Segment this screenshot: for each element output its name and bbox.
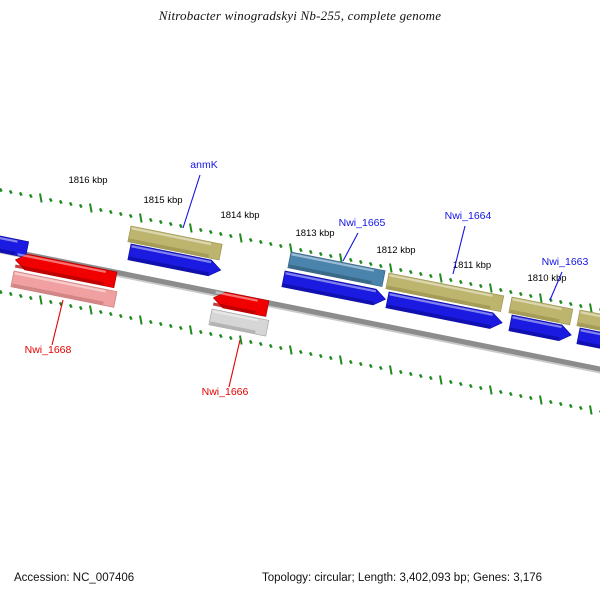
- scale-minor-tick: [360, 362, 362, 365]
- scale-minor-tick: [260, 240, 262, 243]
- gene-label-leader-line: [229, 340, 240, 387]
- scale-minor-tick: [460, 382, 462, 385]
- scale-minor-tick: [480, 386, 482, 389]
- scale-minor-tick: [320, 354, 322, 357]
- scale-major-tick: [140, 316, 142, 325]
- scale-minor-tick: [480, 284, 482, 287]
- gene-label-leader-line: [183, 175, 200, 228]
- scale-minor-tick: [150, 218, 152, 221]
- gene-label[interactable]: Nwi_1668: [25, 344, 72, 356]
- scale-minor-tick: [370, 364, 372, 367]
- scale-major-tick: [540, 396, 542, 405]
- scale-minor-tick: [470, 384, 472, 387]
- scale-minor-tick: [430, 376, 432, 379]
- scale-minor-tick: [30, 296, 32, 299]
- scale-minor-tick: [170, 324, 172, 327]
- scale-minor-tick: [300, 248, 302, 251]
- scale-minor-tick: [450, 278, 452, 281]
- scale-minor-tick: [160, 220, 162, 223]
- scale-minor-tick: [270, 344, 272, 347]
- scale-minor-tick: [200, 228, 202, 231]
- scale-minor-tick: [170, 222, 172, 225]
- scale-minor-tick: [330, 254, 332, 257]
- scale-minor-tick: [110, 312, 112, 315]
- scale-minor-tick: [550, 400, 552, 403]
- scale-minor-tick: [450, 380, 452, 383]
- scale-minor-tick: [230, 234, 232, 237]
- genome-summary-text: Topology: circular; Length: 3,402,093 bp…: [262, 572, 542, 584]
- scale-major-tick: [190, 326, 192, 335]
- scale-minor-tick: [210, 230, 212, 233]
- scale-minor-tick: [520, 292, 522, 295]
- ruler-tick-label: 1816 kbp: [68, 175, 107, 186]
- scale-minor-tick: [360, 260, 362, 263]
- scale-minor-tick: [310, 352, 312, 355]
- scale-minor-tick: [560, 402, 562, 405]
- gene-label-leader-line: [343, 233, 358, 261]
- scale-minor-tick: [120, 314, 122, 317]
- scale-minor-tick: [320, 252, 322, 255]
- scale-minor-tick: [50, 300, 52, 303]
- scale-minor-tick: [220, 334, 222, 337]
- gene-label[interactable]: Nwi_1663: [542, 256, 589, 268]
- scale-major-tick: [490, 386, 492, 395]
- scale-major-tick: [590, 406, 592, 415]
- scale-minor-tick: [80, 306, 82, 309]
- genome-map-canvas: Nitrobacter winogradskyi Nb-255, complet…: [0, 0, 600, 600]
- scale-minor-tick: [70, 304, 72, 307]
- scale-minor-tick: [350, 258, 352, 261]
- scale-minor-tick: [110, 210, 112, 213]
- scale-minor-tick: [380, 264, 382, 267]
- page-title: Nitrobacter winogradskyi Nb-255, complet…: [0, 8, 600, 24]
- scale-major-tick: [290, 346, 292, 355]
- scale-minor-tick: [130, 214, 132, 217]
- scale-major-tick: [190, 224, 192, 233]
- scale-major-tick: [390, 366, 392, 375]
- scale-major-tick: [90, 306, 92, 315]
- scale-minor-tick: [210, 332, 212, 335]
- scale-major-tick: [440, 274, 442, 283]
- scale-minor-tick: [200, 330, 202, 333]
- scale-minor-tick: [260, 342, 262, 345]
- scale-minor-tick: [220, 232, 222, 235]
- scale-minor-tick: [130, 316, 132, 319]
- scale-major-tick: [590, 304, 592, 313]
- scale-minor-tick: [300, 350, 302, 353]
- scale-major-tick: [240, 336, 242, 345]
- scale-minor-tick: [380, 366, 382, 369]
- gene-feature[interactable]: [0, 228, 29, 257]
- scale-minor-tick: [570, 302, 572, 305]
- gene-label[interactable]: Nwi_1666: [202, 386, 249, 398]
- scale-minor-tick: [470, 282, 472, 285]
- ruler-tick-label: 1815 kbp: [143, 195, 182, 206]
- ruler-tick-label: 1811 kbp: [453, 260, 491, 271]
- scale-major-tick: [40, 296, 42, 305]
- scale-minor-tick: [580, 406, 582, 409]
- scale-minor-tick: [30, 194, 32, 197]
- genome-diagram: 1816 kbp1815 kbp1814 kbp1813 kbp1812 kbp…: [0, 0, 600, 600]
- scale-major-tick: [340, 254, 342, 263]
- gene-feature[interactable]: [577, 328, 600, 355]
- gene-label[interactable]: Nwi_1665: [339, 217, 386, 229]
- scale-minor-tick: [400, 268, 402, 271]
- scale-minor-tick: [330, 356, 332, 359]
- scale-minor-tick: [20, 294, 22, 297]
- scale-minor-tick: [370, 262, 372, 265]
- scale-minor-tick: [420, 374, 422, 377]
- scale-minor-tick: [350, 360, 352, 363]
- scale-minor-tick: [410, 270, 412, 273]
- scale-major-tick: [90, 204, 92, 213]
- gene-label[interactable]: Nwi_1664: [445, 210, 492, 222]
- scale-minor-tick: [70, 202, 72, 205]
- scale-major-tick: [290, 244, 292, 253]
- scale-major-tick: [440, 376, 442, 385]
- scale-minor-tick: [0, 290, 2, 293]
- scale-minor-tick: [180, 224, 182, 227]
- scale-minor-tick: [510, 290, 512, 293]
- scale-minor-tick: [120, 212, 122, 215]
- scale-minor-tick: [0, 188, 2, 191]
- scale-minor-tick: [400, 370, 402, 373]
- scale-minor-tick: [280, 346, 282, 349]
- scale-minor-tick: [410, 372, 412, 375]
- scale-minor-tick: [50, 198, 52, 201]
- scale-minor-tick: [180, 326, 182, 329]
- scale-minor-tick: [20, 192, 22, 195]
- scale-minor-tick: [10, 292, 12, 295]
- scale-minor-tick: [250, 340, 252, 343]
- scale-minor-tick: [250, 238, 252, 241]
- scale-minor-tick: [100, 310, 102, 313]
- scale-minor-tick: [160, 322, 162, 325]
- scale-minor-tick: [100, 208, 102, 211]
- scale-major-tick: [240, 234, 242, 243]
- gene-label[interactable]: anmK: [190, 159, 217, 171]
- scale-minor-tick: [270, 242, 272, 245]
- scale-minor-tick: [560, 300, 562, 303]
- accession-text: Accession: NC_007406: [14, 572, 134, 584]
- scale-minor-tick: [530, 294, 532, 297]
- scale-minor-tick: [530, 396, 532, 399]
- ruler-tick-label: 1812 kbp: [376, 245, 415, 256]
- scale-major-tick: [340, 356, 342, 365]
- scale-minor-tick: [420, 272, 422, 275]
- ruler-tick-label: 1813 kbp: [295, 228, 334, 239]
- scale-major-tick: [490, 284, 492, 293]
- scale-minor-tick: [10, 190, 12, 193]
- gene-label-leader-line: [52, 300, 63, 345]
- scale-minor-tick: [280, 244, 282, 247]
- scale-minor-tick: [570, 404, 572, 407]
- scale-minor-tick: [520, 394, 522, 397]
- scale-minor-tick: [230, 336, 232, 339]
- scale-minor-tick: [150, 320, 152, 323]
- scale-minor-tick: [460, 280, 462, 283]
- scale-minor-tick: [60, 200, 62, 203]
- scale-minor-tick: [580, 304, 582, 307]
- scale-major-tick: [140, 214, 142, 223]
- scale-minor-tick: [430, 274, 432, 277]
- scale-major-tick: [540, 294, 542, 303]
- scale-major-tick: [40, 194, 42, 203]
- scale-minor-tick: [310, 250, 312, 253]
- scale-minor-tick: [500, 288, 502, 291]
- scale-minor-tick: [500, 390, 502, 393]
- scale-minor-tick: [80, 204, 82, 207]
- ruler-tick-label: 1814 kbp: [220, 210, 259, 221]
- scale-minor-tick: [510, 392, 512, 395]
- scale-major-tick: [390, 264, 392, 273]
